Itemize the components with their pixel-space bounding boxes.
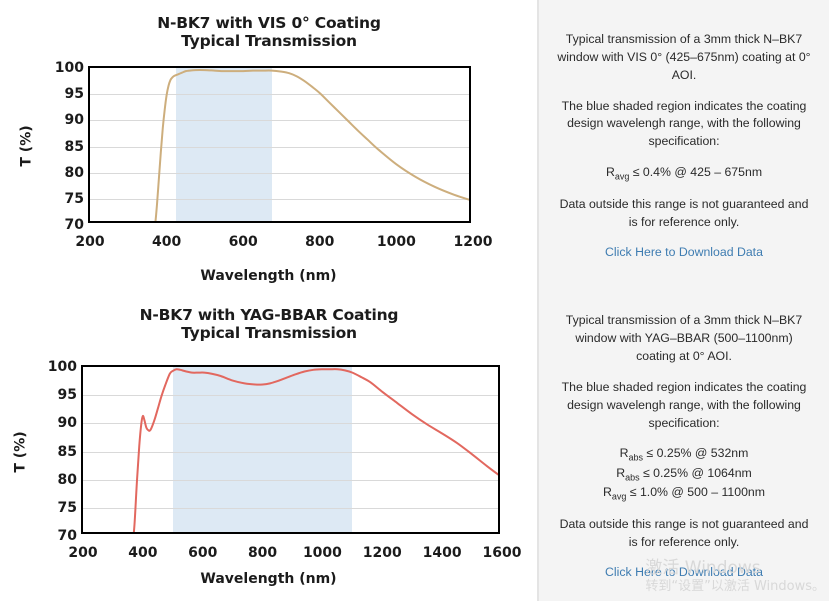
watermark-line-2: 转到“设置”以激活 Windows。 (645, 579, 825, 595)
transmission-curves-page: N-BK7 with VIS 0° Coating Typical Transm… (0, 0, 829, 601)
section-yag-bbar-coating: N-BK7 with YAG-BBAR Coating Typical Tran… (0, 290, 829, 601)
x-tick-label-400: 400 (128, 545, 157, 561)
y-tick-label-75: 75 (37, 500, 77, 516)
download-data-link-vis[interactable]: Click Here to Download Data (555, 245, 813, 259)
y-tick-label-85: 85 (44, 139, 84, 155)
spec-list-vis: Ravg ≤ 0.4% @ 425 – 675nm (555, 164, 813, 183)
x-tick-label-1200: 1200 (454, 234, 493, 250)
x-axis-label-vis: Wavelength (nm) (0, 268, 537, 284)
y-axis-label-vis: T (%) (19, 125, 35, 166)
x-tick-label-1600: 1600 (483, 545, 522, 561)
y-axis-label-yag: T (%) (13, 431, 29, 472)
x-tick-label-800: 800 (305, 234, 334, 250)
info-vis-paragraph-2: The blue shaded region indicates the coa… (555, 98, 813, 151)
x-tick-label-200: 200 (68, 545, 97, 561)
x-axis-label-yag: Wavelength (nm) (0, 571, 537, 587)
spec-line-yag-3: Ravg ≤ 1.0% @ 500 – 1100nm (555, 484, 813, 503)
transmission-curve (90, 68, 471, 223)
x-tick-label-1000: 1000 (377, 234, 416, 250)
x-tick-label-600: 600 (188, 545, 217, 561)
y-tick-label-85: 85 (37, 444, 77, 460)
spec-line-yag-1: Rabs ≤ 0.25% @ 532nm (555, 445, 813, 464)
plot-area-vis: 70758085909510020040060080010001200 (0, 0, 538, 290)
info-yag-paragraph-3: Data outside this range is not guarantee… (555, 516, 813, 552)
y-tick-label-70: 70 (44, 217, 84, 233)
plot-frame-yag (81, 365, 500, 534)
info-yag-paragraph-1: Typical transmission of a 3mm thick N–BK… (555, 312, 813, 365)
x-tick-label-800: 800 (248, 545, 277, 561)
y-tick-label-80: 80 (44, 165, 84, 181)
y-tick-label-90: 90 (37, 415, 77, 431)
y-tick-label-75: 75 (44, 191, 84, 207)
plot-frame-vis (88, 66, 471, 223)
x-tick-label-1200: 1200 (363, 545, 402, 561)
x-tick-label-1000: 1000 (303, 545, 342, 561)
y-tick-label-100: 100 (44, 60, 84, 76)
y-tick-label-95: 95 (44, 86, 84, 102)
x-tick-label-1400: 1400 (423, 545, 462, 561)
download-data-link-yag[interactable]: Click Here to Download Data (555, 565, 813, 579)
spec-list-yag: Rabs ≤ 0.25% @ 532nmRabs ≤ 0.25% @ 1064n… (555, 445, 813, 503)
info-vis-paragraph-1: Typical transmission of a 3mm thick N–BK… (555, 31, 813, 84)
y-tick-label-80: 80 (37, 472, 77, 488)
info-block-yag: Typical transmission of a 3mm thick N–BK… (555, 312, 813, 578)
x-tick-label-600: 600 (229, 234, 258, 250)
plot-area-yag: 7075808590951002004006008001000120014001… (0, 290, 538, 601)
transmission-curve (83, 367, 500, 534)
x-tick-label-200: 200 (75, 234, 104, 250)
info-pane-yag: Typical transmission of a 3mm thick N–BK… (538, 290, 829, 601)
chart-pane-vis: N-BK7 with VIS 0° Coating Typical Transm… (0, 0, 538, 290)
info-vis-paragraph-3: Data outside this range is not guarantee… (555, 196, 813, 232)
info-pane-vis: Typical transmission of a 3mm thick N–BK… (538, 0, 829, 290)
spec-line-vis-1: Ravg ≤ 0.4% @ 425 – 675nm (555, 164, 813, 183)
y-tick-label-70: 70 (37, 528, 77, 544)
info-block-vis: Typical transmission of a 3mm thick N–BK… (555, 31, 813, 259)
chart-pane-yag: N-BK7 with YAG-BBAR Coating Typical Tran… (0, 290, 538, 601)
section-vis-coating: N-BK7 with VIS 0° Coating Typical Transm… (0, 0, 829, 290)
spec-line-yag-2: Rabs ≤ 0.25% @ 1064nm (555, 465, 813, 484)
y-tick-label-95: 95 (37, 387, 77, 403)
y-tick-label-100: 100 (37, 359, 77, 375)
y-tick-label-90: 90 (44, 112, 84, 128)
info-yag-paragraph-2: The blue shaded region indicates the coa… (555, 379, 813, 432)
x-tick-label-400: 400 (152, 234, 181, 250)
